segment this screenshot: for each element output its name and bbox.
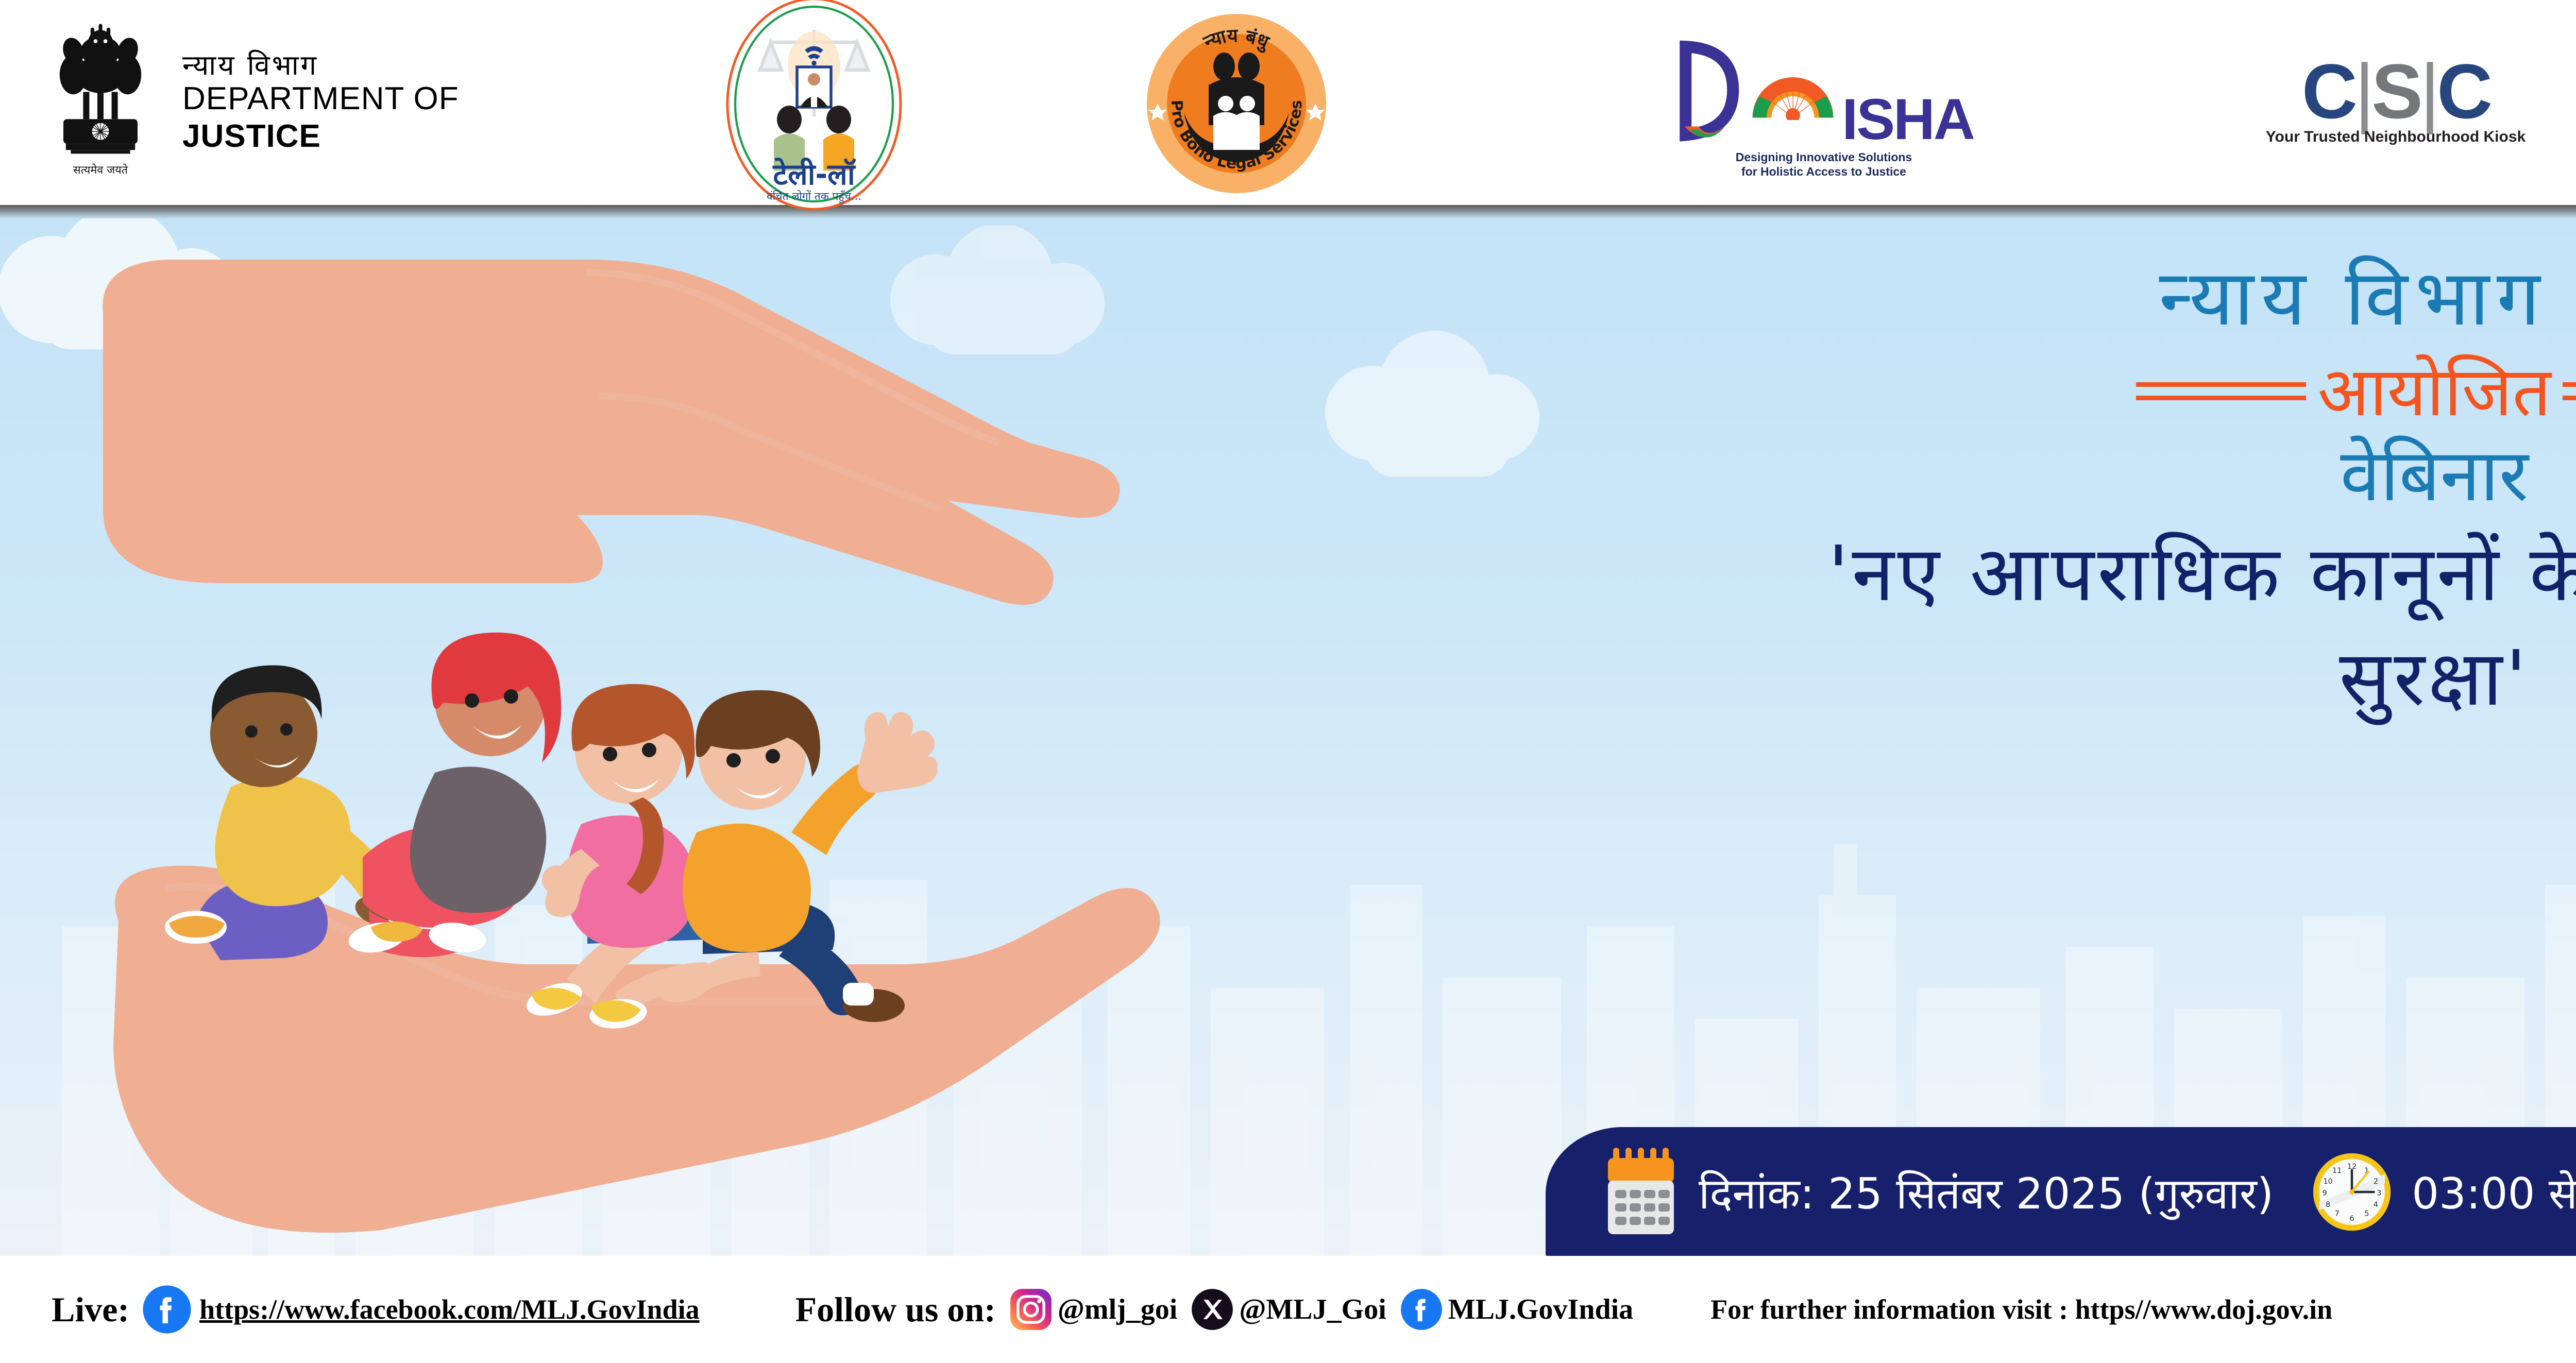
svg-text:9: 9 [2323,1189,2327,1197]
logo-tele-law: टेली-लॉ वंचित लोगों तक पहुँच... [721,16,907,192]
webinar-date-label: दिनांक: 25 सितंबर 2025 (गुरुवार) [1699,1163,2274,1221]
facebook-handle[interactable]: MLJ.GovIndia [1448,1293,1633,1326]
svg-text:सत्यमेव जयते: सत्यमेव जयते [73,163,128,177]
nyaya-bandhu-circular-logo-icon: न्याय बंधु Pro Bono Legal Services [1144,11,1329,196]
logo-csc: C|S|C Your Trusted Neighbourhood Kiosk [2236,12,2555,193]
svg-text:3: 3 [2377,1189,2381,1197]
title-line-2-row: आयोजित [1288,355,2576,430]
disha-tagline: Designing Innovative Solutions for Holis… [1736,150,1912,179]
svg-text:6: 6 [2350,1215,2354,1223]
facebook-icon[interactable] [1400,1288,1443,1331]
doj-line1: DEPARTMENT OF [182,80,459,117]
csc-tagline: Your Trusted Neighbourhood Kiosk [2266,128,2526,146]
header-logo-bar: सत्यमेव जयते न्याय विभाग DEPARTMENT OF J… [0,0,2576,205]
csc-wordmark: C|S|C [2302,60,2490,123]
webinar-title-block: न्याय विभाग द्वारा आयोजित वेबिनार 'नए आप… [1288,251,2576,728]
date-time-bar: दिनांक: 25 सितंबर 2025 (गुरुवार) 1212 34… [1546,1127,2576,1257]
doj-line2: JUSTICE [182,117,459,155]
banner-artwork-stage: न्याय विभाग द्वारा आयोजित वेबिनार 'नए आप… [0,205,2576,1256]
clock-icon: 1212 345 678 91011 [2311,1151,2393,1233]
svg-text:4: 4 [2374,1201,2378,1209]
instagram-handle[interactable]: @mlj_goi [1058,1293,1178,1326]
svg-text:11: 11 [2332,1167,2342,1175]
facebook-live-url[interactable]: https://www.facebook.com/MLJ.GovIndia [199,1293,700,1325]
logo-disha: ISHA Designing Innovative Solutions for … [1664,10,1984,196]
footer-info-group: For further information visit : https//w… [1710,1293,2332,1325]
footer-follow-group: Follow us on: @mlj_goi @MLJ_Goi [795,1288,1634,1331]
title-line-2: आयोजित [2306,355,2562,430]
svg-text:वंचित लोगों तक पहुँच...: वंचित लोगों तक पहुँच... [767,190,861,203]
disha-d-arch-icon [1674,27,1751,146]
webinar-time-label: 03:00 से 04:00 तक [2412,1163,2576,1221]
logo-nyaya-bandhu: न्याय बंधु Pro Bono Legal Services [1144,13,1329,194]
ashoka-lion-capital-emblem-icon: सत्यमेव जयते [36,10,165,196]
instagram-icon[interactable] [1009,1288,1053,1331]
doj-hindi-label: न्याय विभाग [182,51,459,80]
svg-text:10: 10 [2324,1178,2333,1186]
child-figure-1 [165,665,402,960]
facebook-icon[interactable] [142,1284,192,1335]
calendar-icon [1605,1146,1677,1238]
webinar-banner: सत्यमेव जयते न्याय विभाग DEPARTMENT OF J… [0,0,2576,1363]
tele-law-ellipse-logo-icon: टेली-लॉ वंचित लोगों तक पहुँच... [721,0,907,212]
hand-holding-children-illustration [41,205,1226,1240]
svg-text:5: 5 [2364,1209,2369,1218]
upper-hand-shape [103,260,1120,605]
title-line-1: न्याय विभाग द्वारा [1288,251,2576,346]
title-line-4b: सुरक्षा' [1288,629,2576,728]
follow-label: Follow us on: [795,1289,996,1330]
svg-text:टेली-लॉ: टेली-लॉ [772,158,856,192]
title-line-4a: 'नए आपराधिक कानूनों के तहत बच्चों की [1288,524,2576,623]
child-figure-2 [346,633,561,957]
x-twitter-icon[interactable] [1191,1288,1234,1331]
header-shadow-divider [0,205,2576,218]
further-information-text[interactable]: For further information visit : https//w… [1710,1293,2332,1325]
svg-text:7: 7 [2335,1209,2340,1218]
title-line-3: वेबिनार [1288,433,2576,519]
x-handle[interactable]: @MLJ_Goi [1239,1293,1386,1326]
logo-department-of-justice: सत्यमेव जयते न्याय विभाग DEPARTMENT OF J… [21,5,567,201]
live-label: Live: [52,1289,129,1330]
disha-rainbow-arch-icon [1744,58,1842,120]
svg-text:8: 8 [2326,1201,2330,1209]
svg-text:2: 2 [2374,1178,2378,1186]
footer-live-group: Live: https://www.facebook.com/MLJ.GovIn… [52,1284,700,1335]
footer-social-bar: Live: https://www.facebook.com/MLJ.GovIn… [0,1256,2576,1363]
